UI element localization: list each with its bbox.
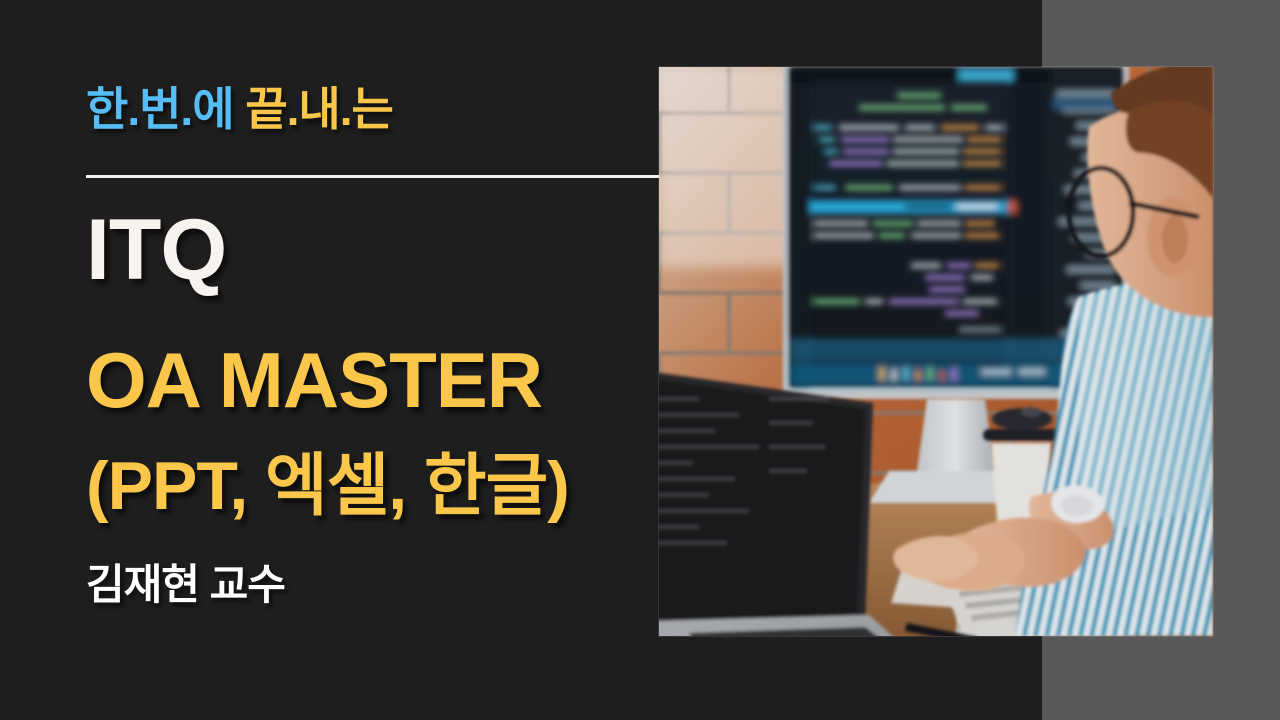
hero-photo <box>659 67 1213 636</box>
headline-line-3: (PPT, 엑셀, 한글) <box>86 452 569 520</box>
eyebrow-space <box>234 83 246 135</box>
headline-line-1: ITQ <box>86 207 226 293</box>
eyebrow-segment-blue: 한.번.에 <box>86 83 234 135</box>
horizontal-divider <box>86 175 659 178</box>
slide-root: 한.번.에 끝.내.는 ITQ OA MASTER (PPT, 엑셀, 한글) … <box>0 0 1280 720</box>
text-column: 한.번.에 끝.내.는 ITQ OA MASTER (PPT, 엑셀, 한글) … <box>86 0 666 720</box>
headline-line-2: OA MASTER <box>86 341 542 419</box>
eyebrow-line: 한.번.에 끝.내.는 <box>86 86 393 132</box>
author-name: 김재현 교수 <box>86 564 285 606</box>
eyebrow-segment-yellow: 끝.내.는 <box>245 83 393 135</box>
